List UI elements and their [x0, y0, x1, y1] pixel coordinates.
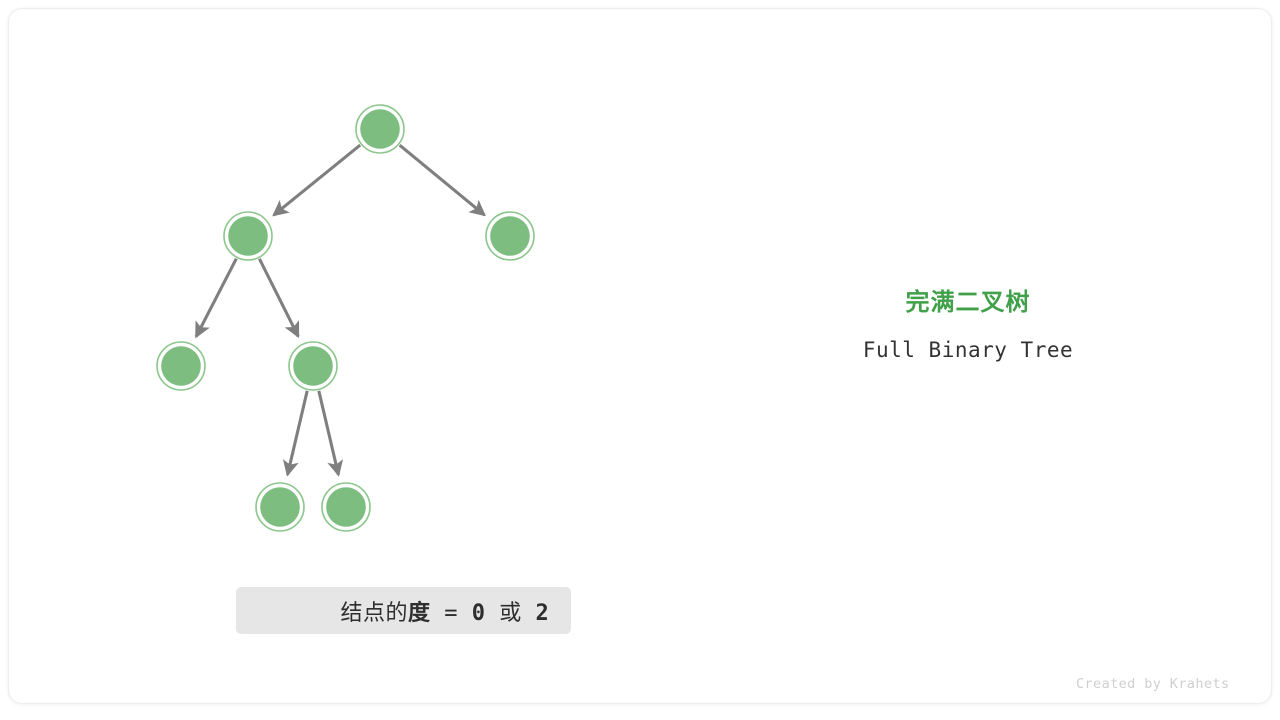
caption-degree-word: 度: [408, 601, 431, 626]
diagram-canvas: 完满二叉树 Full Binary Tree 结点的度 = 0 或 2 Crea…: [0, 0, 1280, 720]
diagram-subtitle: Full Binary Tree: [768, 338, 1168, 362]
caption-or-word: 或: [486, 601, 536, 626]
diagram-title: 完满二叉树: [768, 290, 1168, 316]
caption-badge: 结点的度 = 0 或 2: [236, 587, 571, 634]
caption-equals: =: [431, 601, 472, 626]
caption-value-two: 2: [536, 601, 550, 626]
caption-prefix: 结点的: [340, 601, 408, 626]
attribution-text: Created by Krahets: [1076, 676, 1230, 692]
caption-value-zero: 0: [472, 601, 486, 626]
legend-block: 完满二叉树 Full Binary Tree: [768, 290, 1168, 362]
caption-text: 结点的度 = 0 或 2: [258, 570, 549, 652]
